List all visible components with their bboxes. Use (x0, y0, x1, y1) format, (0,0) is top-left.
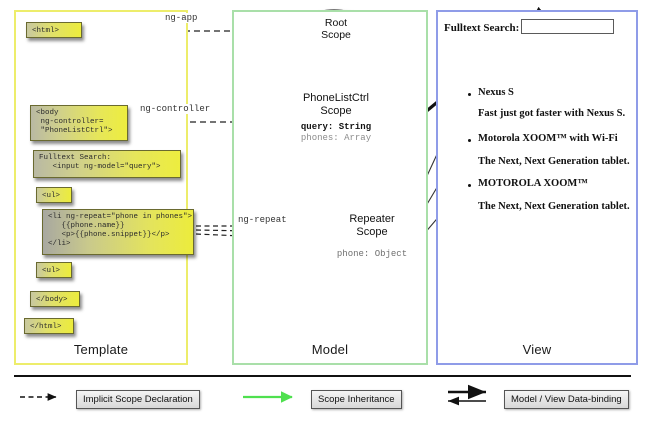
legend: Implicit Scope Declaration Scope Inherit… (14, 378, 631, 414)
legend-label-scope-inheritance: Scope Inheritance (311, 390, 402, 409)
code-box-body-open: <body ng-controller= "PhoneListCtrl"> (30, 105, 128, 141)
list-bullet (468, 93, 471, 96)
code-box-fulltext-search: Fulltext Search: <input ng-model="query"… (33, 150, 181, 178)
list-item-snippet: The Next, Next Generation tablet. (478, 201, 630, 212)
legend-label-model-view-data-binding: Model / View Data-binding (504, 390, 629, 409)
label-ng-controller: ng-controller (138, 104, 212, 114)
code-box-li-ng-repeat: <li ng-repeat="phone in phones"> {{phone… (42, 209, 194, 255)
list-item-snippet: Fast just got faster with Nexus S. (478, 108, 625, 119)
panel-model-label: Model (234, 342, 426, 357)
legend-divider (14, 375, 631, 377)
view-search-input[interactable] (521, 19, 614, 34)
list-item-name: Nexus S (478, 87, 514, 98)
panel-template-label: Template (16, 342, 186, 357)
code-box-body-close: </body> (30, 291, 80, 307)
panel-view-label: View (438, 342, 636, 357)
label-ng-app: ng-app (163, 13, 199, 23)
code-box-ul-close: <ul> (36, 262, 72, 278)
diagram-canvas: Template Model View <html> <body ng-cont… (0, 0, 645, 425)
list-item-snippet: The Next, Next Generation tablet. (478, 156, 630, 167)
label-ng-repeat: ng-repeat (236, 215, 289, 225)
list-bullet (468, 139, 471, 142)
list-item-name: Motorola XOOM™ with Wi-Fi (478, 133, 618, 144)
list-bullet (468, 184, 471, 187)
view-search-label: Fulltext Search: (444, 22, 519, 34)
code-box-html-close: </html> (24, 318, 74, 334)
legend-label-implicit-scope-declaration: Implicit Scope Declaration (76, 390, 200, 409)
code-box-html-open: <html> (26, 22, 82, 38)
list-item-name: MOTOROLA XOOM™ (478, 178, 588, 189)
code-box-ul-open: <ul> (36, 187, 72, 203)
panel-model: Model (232, 10, 428, 365)
